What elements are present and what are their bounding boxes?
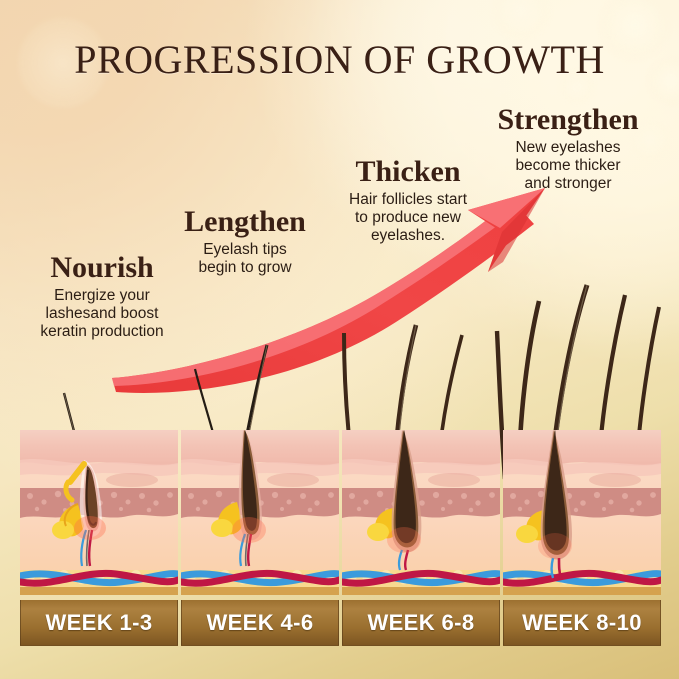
stage-heading: Lengthen	[150, 206, 340, 238]
stage-body: New eyelashes become thicker and stronge…	[468, 139, 668, 194]
stage-strengthen: Strengthen New eyelashes become thicker …	[468, 104, 668, 193]
panel-week-1-3: WEEK 1-3	[20, 430, 178, 646]
infographic-poster: PROGRESSION OF GROWTH Nourish Energize y…	[0, 0, 679, 679]
panel-label: WEEK 4-6	[181, 600, 339, 646]
panel-label: WEEK 8-10	[503, 600, 661, 646]
bokeh-light	[492, 0, 550, 40]
skin-cross-section	[181, 430, 339, 595]
panel-week-8-10: WEEK 8-10	[503, 430, 661, 646]
page-title: PROGRESSION OF GROWTH	[0, 36, 679, 83]
stage-heading: Strengthen	[468, 104, 668, 136]
panel-week-4-6: WEEK 4-6	[181, 430, 339, 646]
panel-label: WEEK 6-8	[342, 600, 500, 646]
skin-cross-section	[20, 430, 178, 595]
skin-cross-section	[503, 430, 661, 595]
panel-label: WEEK 1-3	[20, 600, 178, 646]
stage-lengthen: Lengthen Eyelash tips begin to grow	[150, 206, 340, 277]
skin-cross-section	[342, 430, 500, 595]
stage-body: Hair follicles start to produce new eyel…	[318, 191, 498, 246]
panel-week-6-8: WEEK 6-8	[342, 430, 500, 646]
stage-body: Eyelash tips begin to grow	[150, 241, 340, 278]
